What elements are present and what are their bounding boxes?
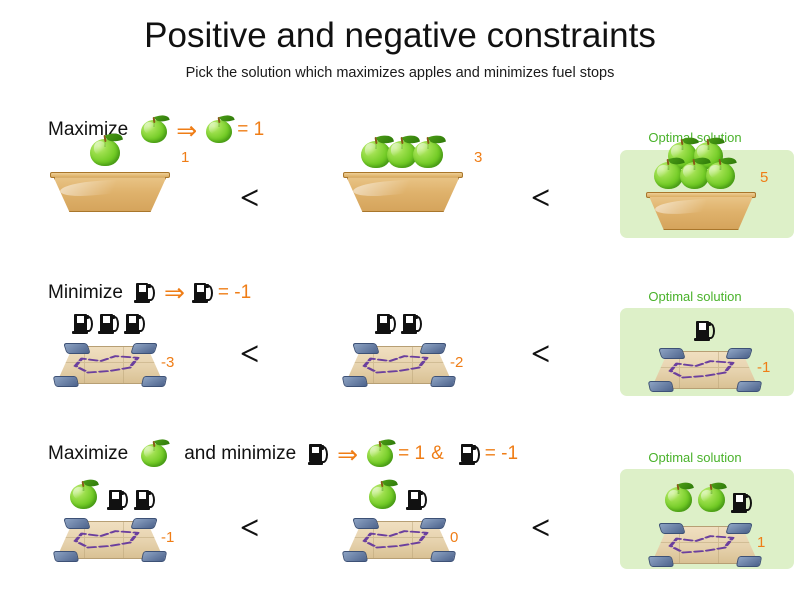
score-label: -1 [757,360,770,375]
map-icon [651,523,759,567]
apple-pump-stack [665,483,752,513]
page-title: Positive and negative constraints [0,16,800,56]
comparator-less-than: < [240,180,259,218]
apple-icon [141,440,167,468]
bowl-icon [343,172,463,212]
implies-arrow-icon: ⇒ [176,118,197,143]
apple-stack [654,158,735,190]
fuel-pump-icon [136,282,155,303]
apple-icon [90,134,120,167]
apple-pump-stack [369,480,427,510]
map-icon [651,348,759,392]
solution-map-2-pumps[interactable]: -2 [345,343,453,392]
pump-stack [696,320,715,341]
implies-arrow-icon: ⇒ [337,442,358,467]
bowl-icon [646,192,756,230]
fuel-pump-icon [126,313,145,334]
fuel-pump-icon [733,492,752,513]
fuel-pump-icon [309,444,328,465]
score-label: 0 [450,530,458,545]
comparator-less-than: < [531,510,550,548]
solution-map-2-apples-1-pump[interactable]: 1 [651,523,759,572]
apple-icon [698,483,725,513]
optimal-solution-label: Optimal solution [608,450,782,465]
score-label: -2 [450,355,463,370]
comparator-less-than: < [531,180,550,218]
solution-bowl-1-apple[interactable]: 1 [50,172,170,217]
apple-icon [665,483,692,513]
fuel-pump-icon [194,282,213,303]
fuel-pump-icon [74,313,93,334]
score-label: 3 [474,150,482,165]
score-label: 5 [760,170,768,185]
comparator-less-than: < [240,510,259,548]
apple-stack [90,134,120,167]
optimal-solution-label: Optimal solution [608,289,782,304]
fuel-pump-icon [408,489,427,510]
apple-stack [361,136,443,169]
slide-canvas: Positive and negative constraints Pick t… [0,0,800,600]
solution-bowl-3-apples[interactable]: 3 [343,172,463,217]
map-icon [56,518,164,562]
fuel-pump-icon [696,320,715,341]
comparator-less-than: < [531,336,550,374]
fuel-pump-icon [377,313,396,334]
implies-arrow-icon: ⇒ [164,280,185,305]
comparator-less-than: < [240,336,259,374]
apple-icon [141,116,167,144]
solution-map-1-pump[interactable]: -1 [651,348,759,397]
page-subtitle: Pick the solution which maximizes apples… [0,65,800,81]
legend-equals: = 1 [237,119,264,141]
legend-verb: Minimize [48,282,123,304]
apple-icon [367,440,393,468]
fuel-pump-icon [109,489,128,510]
score-label: -1 [161,530,174,545]
map-icon [345,518,453,562]
pump-stack [74,313,145,334]
apple-icon [70,480,97,510]
apple-icon [206,116,232,144]
score-label: 1 [181,150,189,165]
solution-map-1-apple-2-pumps[interactable]: -1 [56,518,164,567]
fuel-pump-icon [100,313,119,334]
apple-icon [706,158,735,190]
score-label: 1 [757,535,765,550]
fuel-pump-icon [403,313,422,334]
solution-bowl-5-apples[interactable]: 5 [646,192,756,235]
bowl-icon [50,172,170,212]
apple-icon [369,480,396,510]
apple-pump-stack [70,480,155,510]
apple-icon [680,158,709,190]
legend-ampersand: & [431,443,444,465]
solution-map-3-pumps[interactable]: -3 [56,343,164,392]
legend-verb: Maximize [48,443,128,465]
legend-conjunction: and minimize [184,443,296,465]
apple-icon [413,136,443,169]
legend-minimize-fuel: Minimize ⇒ = -1 [48,280,251,305]
pump-stack [377,313,422,334]
apple-icon [654,158,683,190]
legend-equals: = -1 [218,282,251,304]
solution-map-1-apple-1-pump[interactable]: 0 [345,518,453,567]
legend-equals: = 1 [398,443,425,465]
legend-maximize-apples-minimize-fuel: Maximize and minimize ⇒ = 1 & [48,440,518,468]
legend-maximize-apples: Maximize ⇒ = 1 [48,116,264,144]
score-label: -3 [161,355,174,370]
fuel-pump-icon [461,444,480,465]
fuel-pump-icon [136,489,155,510]
map-icon [56,343,164,387]
map-icon [345,343,453,387]
legend-second-equals: = -1 [485,443,518,465]
